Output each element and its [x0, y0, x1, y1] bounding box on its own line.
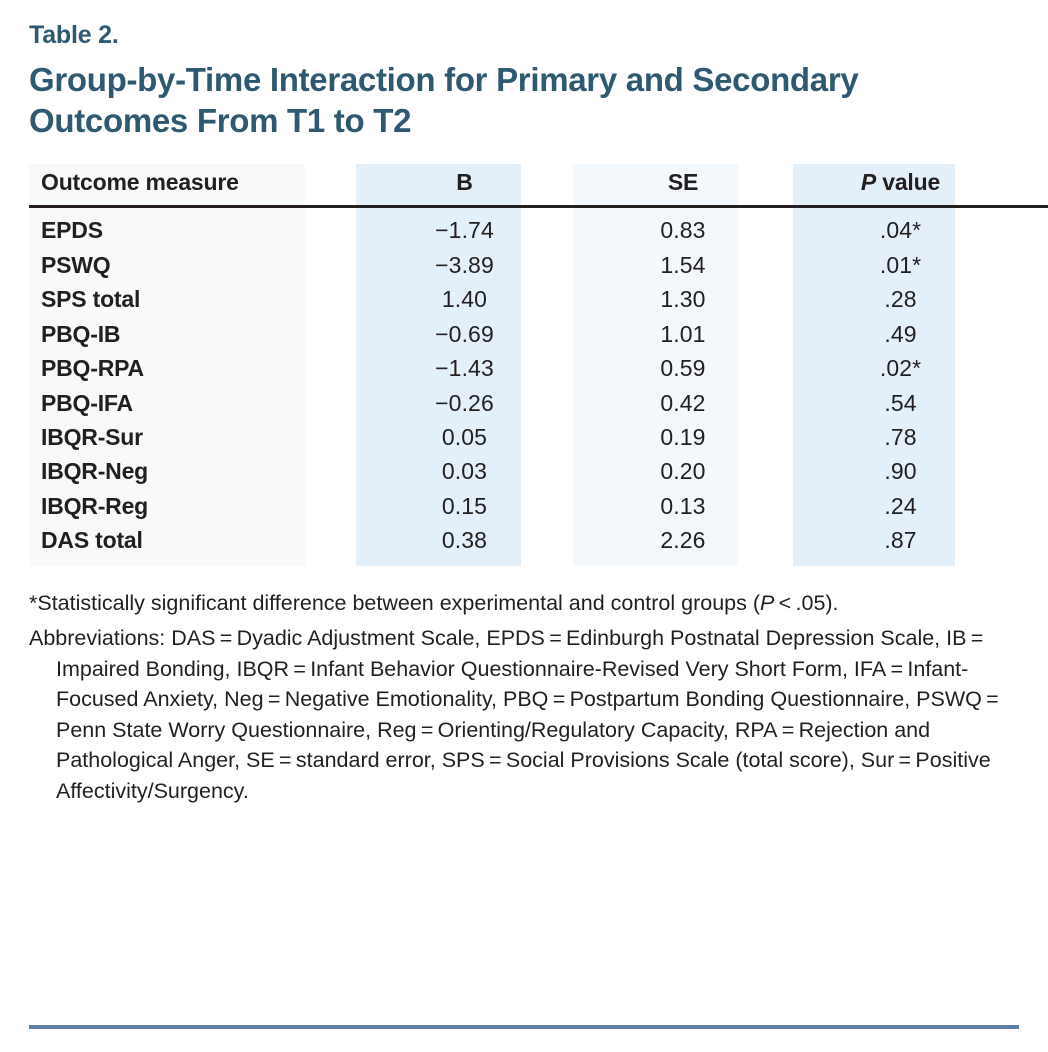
bottom-rule — [29, 1025, 1019, 1029]
table-row: PSWQ−3.891.54.01* — [0, 248, 1048, 282]
cell-se: 0.42 — [573, 386, 793, 420]
column-header-b: B — [356, 164, 573, 207]
table-head: Outcome measure B SE P value — [0, 164, 1048, 207]
cell-outcome: IBQR-Reg — [29, 489, 356, 523]
cell-se: 0.83 — [573, 207, 793, 248]
column-header-p-rest: value — [876, 169, 940, 195]
cell-outcome: PBQ-RPA — [29, 352, 356, 386]
footnotes: *Statistically significant difference be… — [0, 566, 1048, 807]
cell-p: .54 — [793, 386, 1008, 420]
table-row: DAS total0.382.26.87 — [0, 524, 1048, 566]
header-spacer-left — [0, 164, 29, 207]
cell-se: 1.01 — [573, 317, 793, 351]
header-spacer-right — [1008, 164, 1048, 207]
cell-outcome: SPS total — [29, 283, 356, 317]
cell-b: −3.89 — [356, 248, 573, 282]
cell-outcome: PSWQ — [29, 248, 356, 282]
table-header-row: Outcome measure B SE P value — [0, 164, 1048, 207]
cell-se: 2.26 — [573, 524, 793, 566]
cell-se: 0.20 — [573, 455, 793, 489]
row-spacer-right — [1008, 317, 1048, 351]
table-row: PBQ-IFA−0.260.42.54 — [0, 386, 1048, 420]
table-row: PBQ-RPA−1.430.59.02* — [0, 352, 1048, 386]
cell-p: .01* — [793, 248, 1008, 282]
footnote-significance: *Statistically significant difference be… — [29, 588, 1018, 619]
row-spacer-left — [0, 489, 29, 523]
cell-b: 0.38 — [356, 524, 573, 566]
cell-b: −1.74 — [356, 207, 573, 248]
row-spacer-left — [0, 248, 29, 282]
footnote-significance-prefix: *Statistically significant difference be… — [29, 591, 760, 615]
row-spacer-right — [1008, 489, 1048, 523]
table-figure: Table 2. Group-by-Time Interaction for P… — [0, 0, 1048, 1052]
row-spacer-right — [1008, 248, 1048, 282]
cell-p: .87 — [793, 524, 1008, 566]
cell-p: .24 — [793, 489, 1008, 523]
cell-b: 1.40 — [356, 283, 573, 317]
table-row: IBQR-Sur0.050.19.78 — [0, 420, 1048, 454]
cell-p: .78 — [793, 420, 1008, 454]
row-spacer-left — [0, 420, 29, 454]
row-spacer-right — [1008, 386, 1048, 420]
cell-se: 0.59 — [573, 352, 793, 386]
table-row: SPS total1.401.30.28 — [0, 283, 1048, 317]
cell-p: .28 — [793, 283, 1008, 317]
column-header-p: P value — [793, 164, 1008, 207]
row-spacer-left — [0, 352, 29, 386]
row-spacer-left — [0, 524, 29, 566]
row-spacer-right — [1008, 207, 1048, 248]
cell-p: .90 — [793, 455, 1008, 489]
footnote-significance-suffix: < .05). — [774, 591, 838, 615]
row-spacer-right — [1008, 352, 1048, 386]
row-spacer-right — [1008, 455, 1048, 489]
cell-outcome: DAS total — [29, 524, 356, 566]
row-spacer-right — [1008, 524, 1048, 566]
table-number: Table 2. — [29, 22, 1018, 50]
table-body: EPDS−1.740.83.04*PSWQ−3.891.54.01*SPS to… — [0, 207, 1048, 566]
row-spacer-left — [0, 455, 29, 489]
row-spacer-right — [1008, 420, 1048, 454]
cell-outcome: EPDS — [29, 207, 356, 248]
column-header-se: SE — [573, 164, 793, 207]
row-spacer-left — [0, 386, 29, 420]
column-header-p-italic: P — [861, 169, 876, 195]
cell-se: 1.54 — [573, 248, 793, 282]
cell-b: 0.05 — [356, 420, 573, 454]
row-spacer-right — [1008, 283, 1048, 317]
cell-se: 1.30 — [573, 283, 793, 317]
row-spacer-left — [0, 317, 29, 351]
table-row: PBQ-IB−0.691.01.49 — [0, 317, 1048, 351]
page-title: Group-by-Time Interaction for Primary an… — [29, 59, 959, 143]
title-block: Table 2. Group-by-Time Interaction for P… — [0, 0, 1048, 142]
row-spacer-left — [0, 207, 29, 248]
cell-outcome: PBQ-IFA — [29, 386, 356, 420]
cell-p: .49 — [793, 317, 1008, 351]
cell-b: 0.03 — [356, 455, 573, 489]
cell-b: −0.69 — [356, 317, 573, 351]
table-row: IBQR-Reg0.150.13.24 — [0, 489, 1048, 523]
row-spacer-left — [0, 283, 29, 317]
footnote-significance-italic: P — [760, 591, 774, 615]
cell-p: .04* — [793, 207, 1008, 248]
data-table: Outcome measure B SE P value EPDS−1.740.… — [0, 164, 1048, 565]
cell-outcome: IBQR-Sur — [29, 420, 356, 454]
cell-p: .02* — [793, 352, 1008, 386]
cell-outcome: PBQ-IB — [29, 317, 356, 351]
cell-se: 0.13 — [573, 489, 793, 523]
cell-b: −1.43 — [356, 352, 573, 386]
cell-outcome: IBQR-Neg — [29, 455, 356, 489]
table-grid: Outcome measure B SE P value EPDS−1.740.… — [0, 164, 1048, 565]
table-row: IBQR-Neg0.030.20.90 — [0, 455, 1048, 489]
cell-b: 0.15 — [356, 489, 573, 523]
column-header-outcome: Outcome measure — [29, 164, 356, 207]
table-row: EPDS−1.740.83.04* — [0, 207, 1048, 248]
footnote-abbreviations: Abbreviations: DAS = Dyadic Adjustment S… — [29, 623, 1018, 806]
cell-se: 0.19 — [573, 420, 793, 454]
cell-b: −0.26 — [356, 386, 573, 420]
